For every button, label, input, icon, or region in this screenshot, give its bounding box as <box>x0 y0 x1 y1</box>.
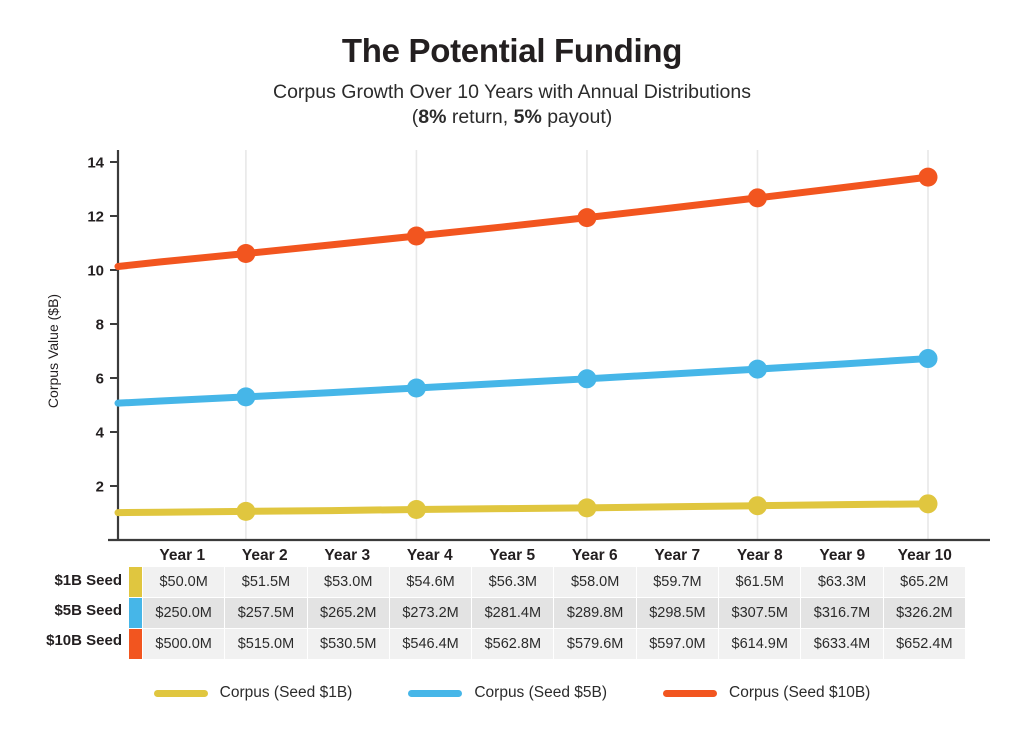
table-row-header: $1B Seed <box>0 566 122 596</box>
data-point-s0-year-2 <box>236 502 255 521</box>
table-cell: $58.0M <box>554 567 636 598</box>
chart-subtitle-line1: Corpus Growth Over 10 Years with Annual … <box>0 80 1024 105</box>
color-swatch-icon <box>129 598 142 628</box>
table-cell: $59.7M <box>636 567 718 598</box>
data-point-s0-year-6 <box>577 498 596 517</box>
table-cell: $281.4M <box>472 598 554 629</box>
x-axis-label-6: Year 6 <box>572 547 618 560</box>
table-cell: $614.9M <box>719 629 801 660</box>
table-cell: $562.8M <box>472 629 554 660</box>
table-cell: $53.0M <box>307 567 389 598</box>
y-axis-ticks: 2468101214 <box>87 155 118 496</box>
color-swatch-icon <box>129 629 142 659</box>
data-point-s1-year-2 <box>236 387 255 406</box>
data-point-s2-year-2 <box>236 244 255 263</box>
table-cell: $579.6M <box>554 629 636 660</box>
table-cell: $289.8M <box>554 598 636 629</box>
x-axis-label-10: Year 10 <box>898 547 952 560</box>
table-cell: $326.2M <box>883 598 965 629</box>
data-point-s1-year-6 <box>577 369 596 388</box>
x-axis-label-7: Year 7 <box>654 547 700 560</box>
table-cell: $250.0M <box>143 598 225 629</box>
table-cell: $50.0M <box>143 567 225 598</box>
chart-subtitle: Corpus Growth Over 10 Years with Annual … <box>0 69 1024 130</box>
x-axis-label-9: Year 9 <box>819 547 865 560</box>
data-point-s2-year-10 <box>919 168 938 187</box>
legend-label: Corpus (Seed $1B) <box>220 684 353 702</box>
data-point-s0-year-8 <box>748 496 767 515</box>
y-tick-label-14: 14 <box>87 155 104 172</box>
table-row-header: $5B Seed <box>0 596 122 626</box>
table-cell: $546.4M <box>389 629 471 660</box>
y-tick-label-8: 8 <box>96 317 104 334</box>
x-axis-label-5: Year 5 <box>489 547 535 560</box>
table-cell: $316.7M <box>801 598 883 629</box>
subtitle-payout-word: payout) <box>542 106 612 128</box>
data-point-s1-year-4 <box>407 378 426 397</box>
legend-label: Corpus (Seed $5B) <box>474 684 607 702</box>
legend-color-icon <box>154 690 208 697</box>
chart-plot-area: 2468101214 Year 1Year 2Year 3Year 4Year … <box>0 140 1024 560</box>
table-body: $50.0M$51.5M$53.0M$54.6M$56.3M$58.0M$59.… <box>129 567 966 660</box>
data-point-s1-year-8 <box>748 360 767 379</box>
color-swatch-icon <box>129 567 142 597</box>
x-axis-label-8: Year 8 <box>737 547 783 560</box>
table-cell: $500.0M <box>143 629 225 660</box>
y-tick-label-6: 6 <box>96 371 104 388</box>
data-point-s0-year-4 <box>407 500 426 519</box>
x-axis-label-1: Year 1 <box>159 547 205 560</box>
chart-subtitle-line2: (8% return, 5% payout) <box>0 105 1024 130</box>
y-tick-label-2: 2 <box>96 479 104 496</box>
table-cell: $265.2M <box>307 598 389 629</box>
table-cell: $54.6M <box>389 567 471 598</box>
legend-item[interactable]: Corpus (Seed $5B) <box>408 684 607 702</box>
y-axis-title: Corpus Value ($B) <box>45 294 61 408</box>
table-cell: $530.5M <box>307 629 389 660</box>
x-axis-label-3: Year 3 <box>324 547 370 560</box>
table-cell: $597.0M <box>636 629 718 660</box>
row-color-swatch-cell <box>129 629 143 660</box>
table-cell: $298.5M <box>636 598 718 629</box>
x-axis-label-4: Year 4 <box>407 547 453 560</box>
legend-item[interactable]: Corpus (Seed $1B) <box>154 684 353 702</box>
table-row-header: $10B Seed <box>0 626 122 656</box>
data-point-s2-year-4 <box>407 226 426 245</box>
table-cell: $515.0M <box>225 629 307 660</box>
subtitle-return-value: 8% <box>418 106 446 128</box>
row-color-swatch-cell <box>129 598 143 629</box>
chart-legend: Corpus (Seed $1B)Corpus (Seed $5B)Corpus… <box>0 684 1024 702</box>
page-title: The Potential Funding <box>0 0 1024 69</box>
data-point-s2-year-6 <box>577 208 596 227</box>
legend-item[interactable]: Corpus (Seed $10B) <box>663 684 870 702</box>
data-point-s0-year-10 <box>919 494 938 513</box>
table-cell: $61.5M <box>719 567 801 598</box>
table-cell: $56.3M <box>472 567 554 598</box>
data-point-s1-year-10 <box>919 349 938 368</box>
legend-color-icon <box>408 690 462 697</box>
table-cell: $307.5M <box>719 598 801 629</box>
table-row: $50.0M$51.5M$53.0M$54.6M$56.3M$58.0M$59.… <box>129 567 966 598</box>
y-tick-label-4: 4 <box>96 425 105 442</box>
y-tick-label-10: 10 <box>87 263 104 280</box>
x-axis-label-2: Year 2 <box>242 547 288 560</box>
data-table: $50.0M$51.5M$53.0M$54.6M$56.3M$58.0M$59.… <box>128 566 966 660</box>
subtitle-payout-value: 5% <box>514 106 542 128</box>
subtitle-return-word: return, <box>446 106 513 128</box>
table-row: $250.0M$257.5M$265.2M$273.2M$281.4M$289.… <box>129 598 966 629</box>
line-chart-svg: 2468101214 Year 1Year 2Year 3Year 4Year … <box>0 140 1024 560</box>
row-color-swatch-cell <box>129 567 143 598</box>
table-cell: $257.5M <box>225 598 307 629</box>
table-cell: $633.4M <box>801 629 883 660</box>
x-axis-category-labels: Year 1Year 2Year 3Year 4Year 5Year 6Year… <box>159 547 952 560</box>
legend-color-icon <box>663 690 717 697</box>
table-row: $500.0M$515.0M$530.5M$546.4M$562.8M$579.… <box>129 629 966 660</box>
data-point-s2-year-8 <box>748 188 767 207</box>
table-cell: $63.3M <box>801 567 883 598</box>
y-tick-label-12: 12 <box>87 209 104 226</box>
data-series <box>118 168 938 521</box>
table-cell: $273.2M <box>389 598 471 629</box>
axis-lines <box>108 150 990 540</box>
legend-label: Corpus (Seed $10B) <box>729 684 870 702</box>
table-cell: $51.5M <box>225 567 307 598</box>
table-cell: $652.4M <box>883 629 965 660</box>
chart-header: The Potential Funding Corpus Growth Over… <box>0 0 1024 130</box>
table-cell: $65.2M <box>883 567 965 598</box>
